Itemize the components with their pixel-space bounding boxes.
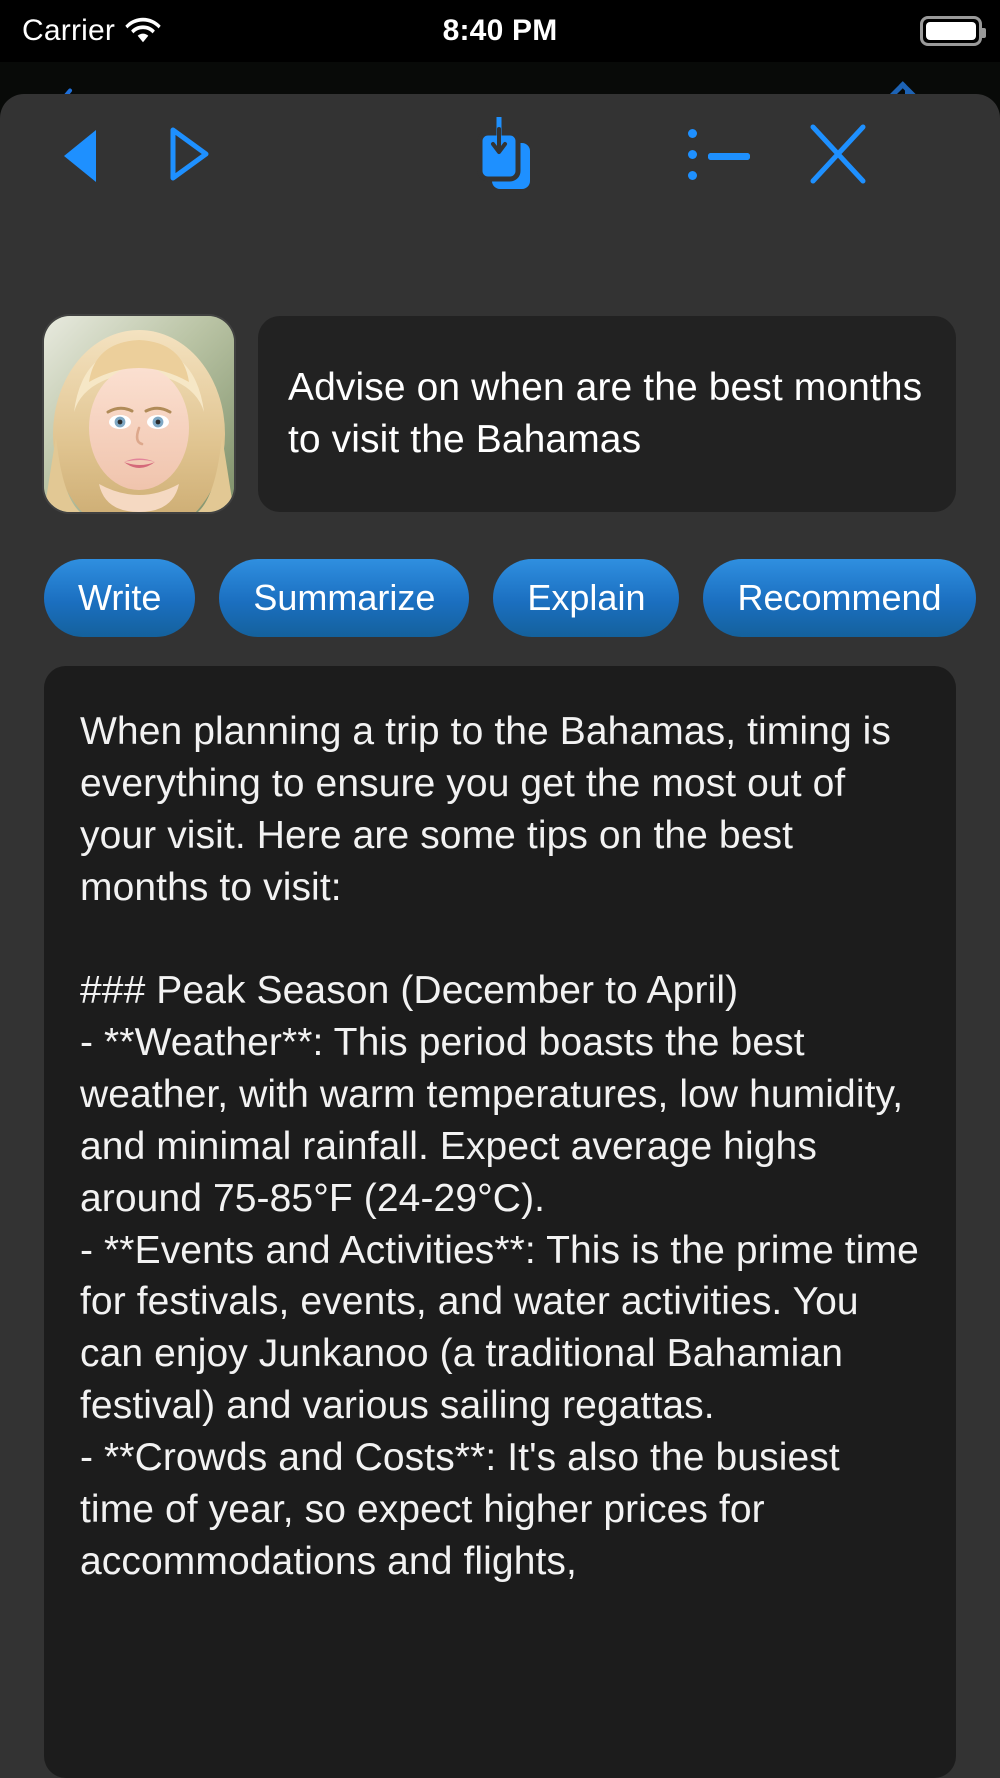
sheet-toolbar <box>0 94 1000 199</box>
previous-response-button[interactable] <box>50 126 110 186</box>
status-bar-time: 8:40 PM <box>0 14 1000 48</box>
prompt-text: Advise on when are the best months to vi… <box>288 362 926 467</box>
pill-recommend[interactable]: Recommend <box>703 559 975 637</box>
avatar-illustration <box>44 316 234 512</box>
prompt-bubble: Advise on when are the best months to vi… <box>258 316 956 512</box>
pill-write[interactable]: Write <box>44 559 195 637</box>
status-bar: Carrier 8:40 PM <box>0 0 1000 62</box>
response-text: When planning a trip to the Bahamas, tim… <box>80 706 920 1588</box>
save-download-icon <box>470 117 540 196</box>
quick-action-pills: Write Summarize Explain Recommend E <box>0 554 1000 642</box>
save-response-button[interactable] <box>470 120 540 192</box>
response-card[interactable]: When planning a trip to the Bahamas, tim… <box>44 666 956 1778</box>
triangle-right-outline-icon <box>168 126 212 187</box>
close-sheet-button[interactable] <box>806 124 870 188</box>
ai-assistant-sheet: Advise on when are the best months to vi… <box>0 94 1000 1778</box>
user-avatar-photo[interactable] <box>44 316 234 512</box>
status-bar-right <box>920 16 982 46</box>
response-list-button[interactable] <box>688 130 750 182</box>
pill-explain[interactable]: Explain <box>493 559 679 637</box>
pill-summarize[interactable]: Summarize <box>219 559 469 637</box>
battery-full-icon <box>920 16 982 46</box>
prompt-row: Advise on when are the best months to vi… <box>0 316 1000 512</box>
next-response-button[interactable] <box>160 126 220 186</box>
close-x-icon <box>806 122 870 191</box>
triangle-left-filled-icon <box>64 130 96 182</box>
